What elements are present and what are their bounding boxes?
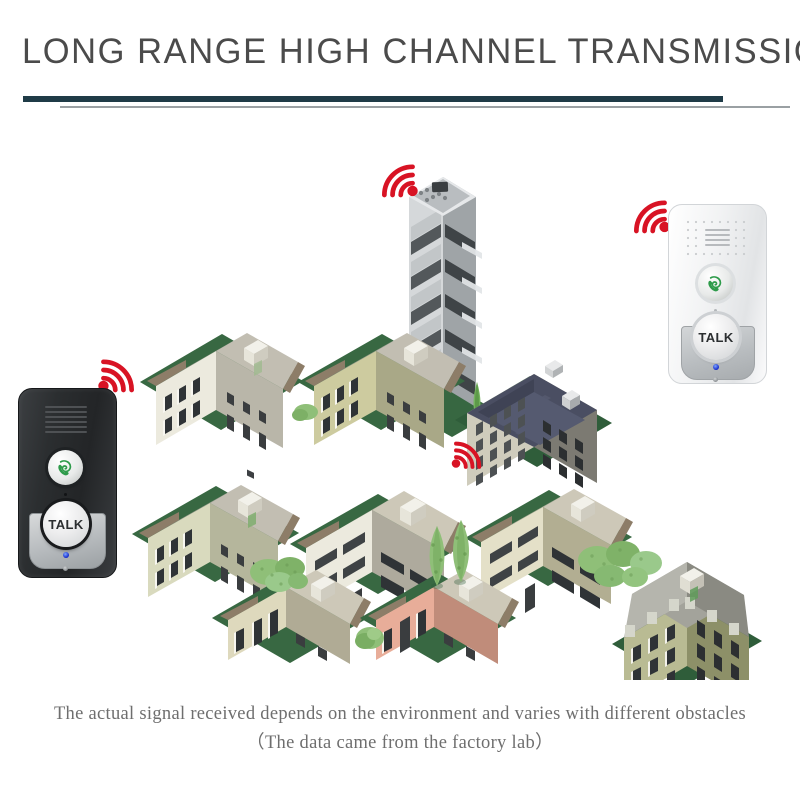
- speaker-dot-field: [684, 218, 750, 262]
- signal-mid-scene-icon: [450, 438, 486, 471]
- title-divider-dark: [23, 96, 723, 102]
- talk-button[interactable]: TALK: [693, 314, 739, 360]
- footer-caption: The actual signal received depends on th…: [0, 700, 800, 758]
- call-button[interactable]: [698, 266, 733, 301]
- building-house-row1-left: [140, 333, 305, 479]
- signal-to-white-unit-icon: [628, 196, 672, 236]
- microphone-hole: [64, 493, 67, 496]
- caption-line-1: The actual signal received depends on th…: [54, 704, 746, 724]
- screw-hole: [63, 566, 68, 571]
- black-doorbell-unit[interactable]: TALK: [18, 388, 115, 576]
- talk-button[interactable]: TALK: [43, 501, 89, 547]
- phone-e-logo-icon: [53, 455, 79, 481]
- call-button[interactable]: [48, 450, 83, 485]
- white-receiver-unit[interactable]: TALK: [668, 204, 765, 382]
- speaker-grille: [45, 406, 87, 432]
- caption-line-2: （The data came from the factory lab）: [0, 729, 800, 758]
- status-led: [713, 364, 719, 370]
- status-led: [63, 552, 69, 558]
- microphone-hole: [714, 309, 717, 312]
- round-bush: [355, 627, 384, 649]
- phone-e-logo-icon: [703, 271, 729, 297]
- signal-at-tower-icon: [376, 160, 420, 200]
- page-title: LONG RANGE HIGH CHANNEL TRANSMISSION: [22, 32, 771, 72]
- product-infographic: LONG RANGE HIGH CHANNEL TRANSMISSION: [0, 0, 800, 800]
- screw-hole: [713, 377, 718, 382]
- title-divider-light: [60, 106, 790, 108]
